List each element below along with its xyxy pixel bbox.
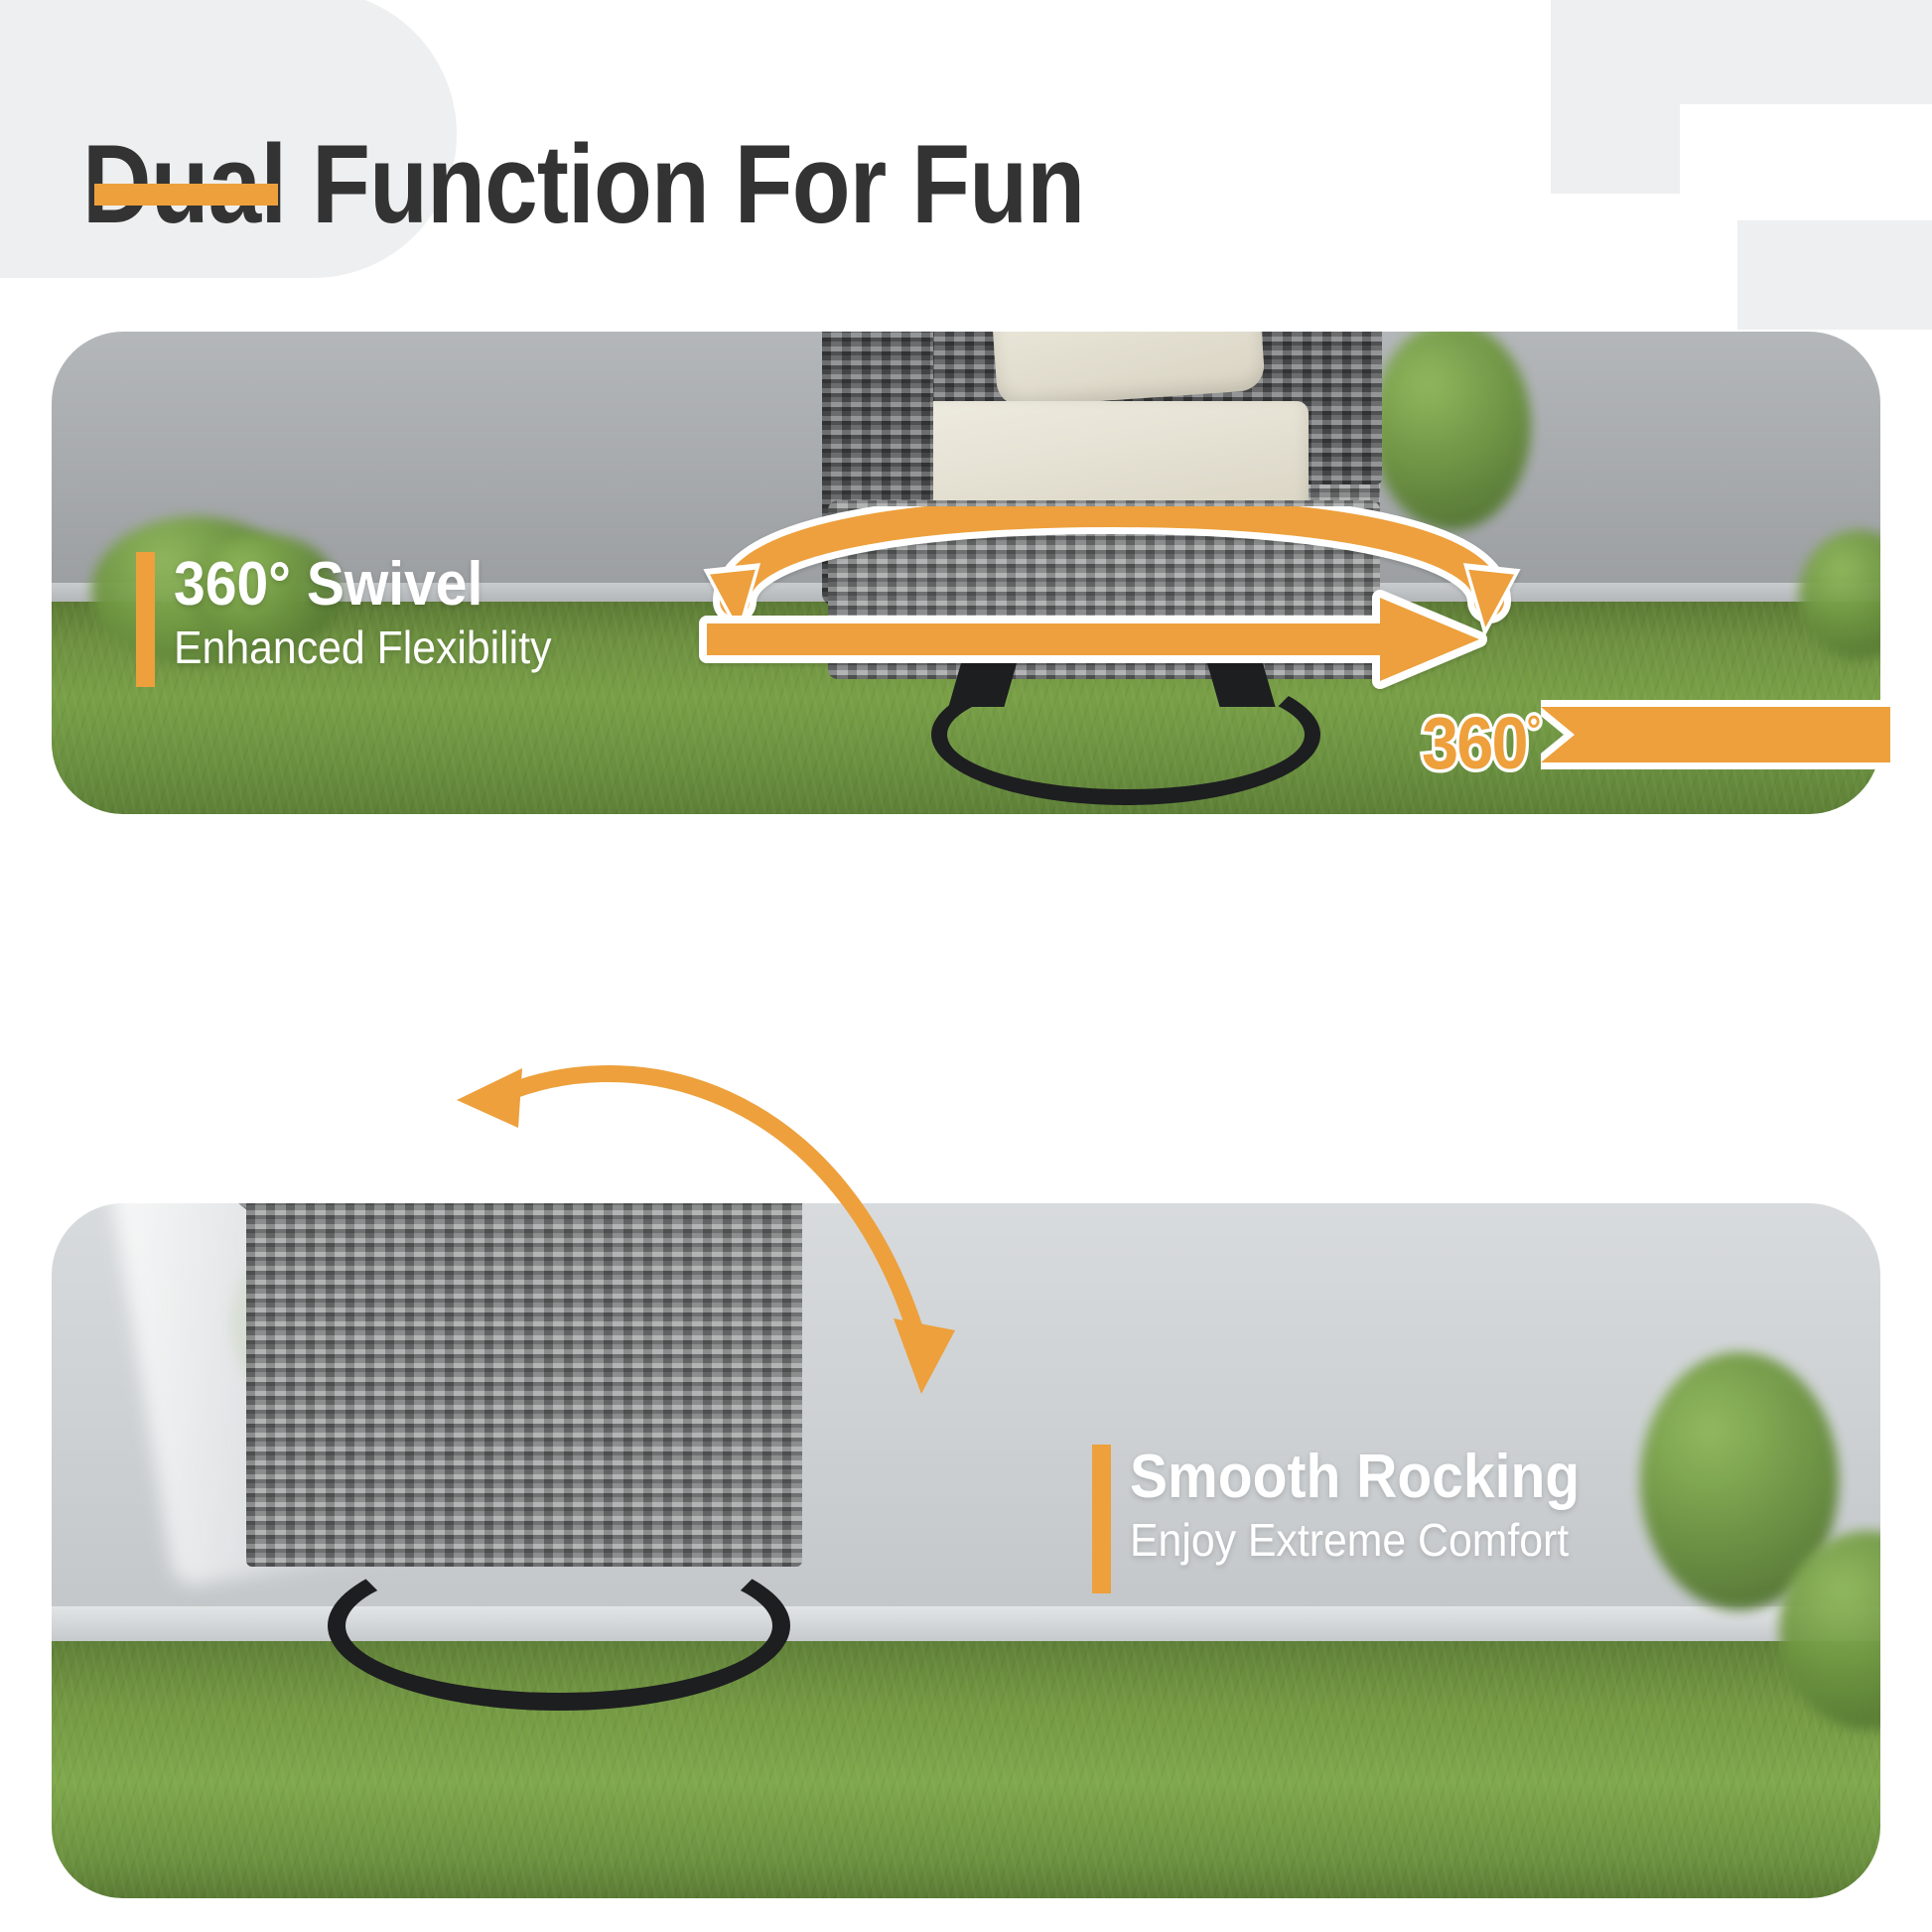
swivel-arrow-tail-icon [1541, 689, 1898, 808]
swivel-360-badge: 360° [1422, 701, 1539, 785]
caption-swivel: 360° Swivel Enhanced Flexibility [136, 552, 580, 672]
corner-block-bar-stem [1551, 0, 1680, 194]
corner-block-square [1737, 220, 1932, 330]
chair-rocker-ring-base [328, 1541, 790, 1711]
rocking-arrow-icon [427, 1052, 983, 1410]
caption-rocking-subtitle: Enjoy Extreme Comfort [1130, 1516, 1585, 1566]
swivel-360-number: 360 [1422, 702, 1527, 784]
caption-rocking: Smooth Rocking Enjoy Extreme Comfort [1092, 1445, 1619, 1565]
caption-swivel-title: 360° Swivel [174, 552, 547, 618]
swivel-degree-symbol: ° [1527, 708, 1540, 752]
caption-accent-bar [1092, 1445, 1111, 1593]
title-underline-accent [94, 184, 278, 206]
swivel-arrow-icon [695, 506, 1529, 695]
poster-canvas: Dual Function For Fun [0, 0, 1932, 1932]
caption-rocking-title: Smooth Rocking [1130, 1445, 1580, 1510]
caption-swivel-subtitle: Enhanced Flexibility [174, 623, 551, 673]
caption-accent-bar [136, 552, 155, 687]
